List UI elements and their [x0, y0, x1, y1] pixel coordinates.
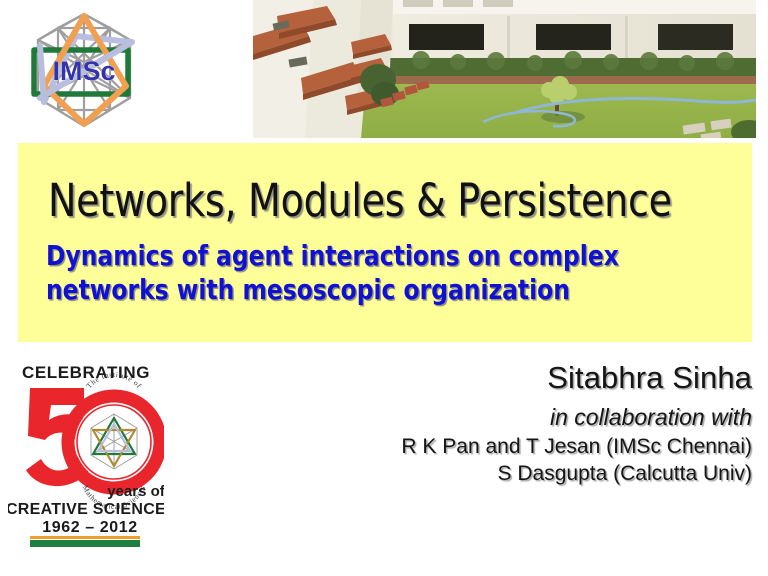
- collaborator-line-2: S Dasgupta (Calcutta Univ): [282, 460, 752, 487]
- anniversary-years-of: years of: [107, 483, 164, 500]
- collaborator-line-1: R K Pan and T Jesan (IMSc Chennai): [282, 433, 752, 460]
- subtitle-line-1: Dynamics of agent interactions on comple…: [46, 239, 678, 273]
- page-title: Networks, Modules & Persistence: [48, 174, 672, 227]
- speaker-name: Sitabhra Sinha: [282, 360, 752, 396]
- imsc-logo-icon: IMSc: [14, 6, 154, 136]
- page-subtitle: Dynamics of agent interactions on comple…: [46, 239, 678, 307]
- author-block: Sitabhra Sinha in collaboration with R K…: [282, 360, 752, 487]
- subtitle-line-2: networks with mesoscopic organization: [46, 273, 678, 307]
- anniversary-creative-science: CREATIVE SCIENCE: [8, 501, 164, 518]
- imsc-acronym: IMSc: [52, 56, 115, 86]
- imsc-logo: IMSc: [14, 6, 154, 136]
- campus-photo: [253, 0, 756, 138]
- anniversary-year-range: 1962 – 2012: [42, 519, 138, 536]
- green-bar: [30, 540, 140, 547]
- collaboration-label: in collaboration with: [282, 401, 752, 433]
- anniversary-logo: CELEBRATING The Institute of: [8, 358, 164, 548]
- title-band: Networks, Modules & Persistence Dynamics…: [18, 143, 752, 342]
- anniversary-logo-icon: CELEBRATING The Institute of: [8, 358, 164, 548]
- orange-bar: [30, 536, 140, 539]
- campus-photo-image: [253, 0, 756, 138]
